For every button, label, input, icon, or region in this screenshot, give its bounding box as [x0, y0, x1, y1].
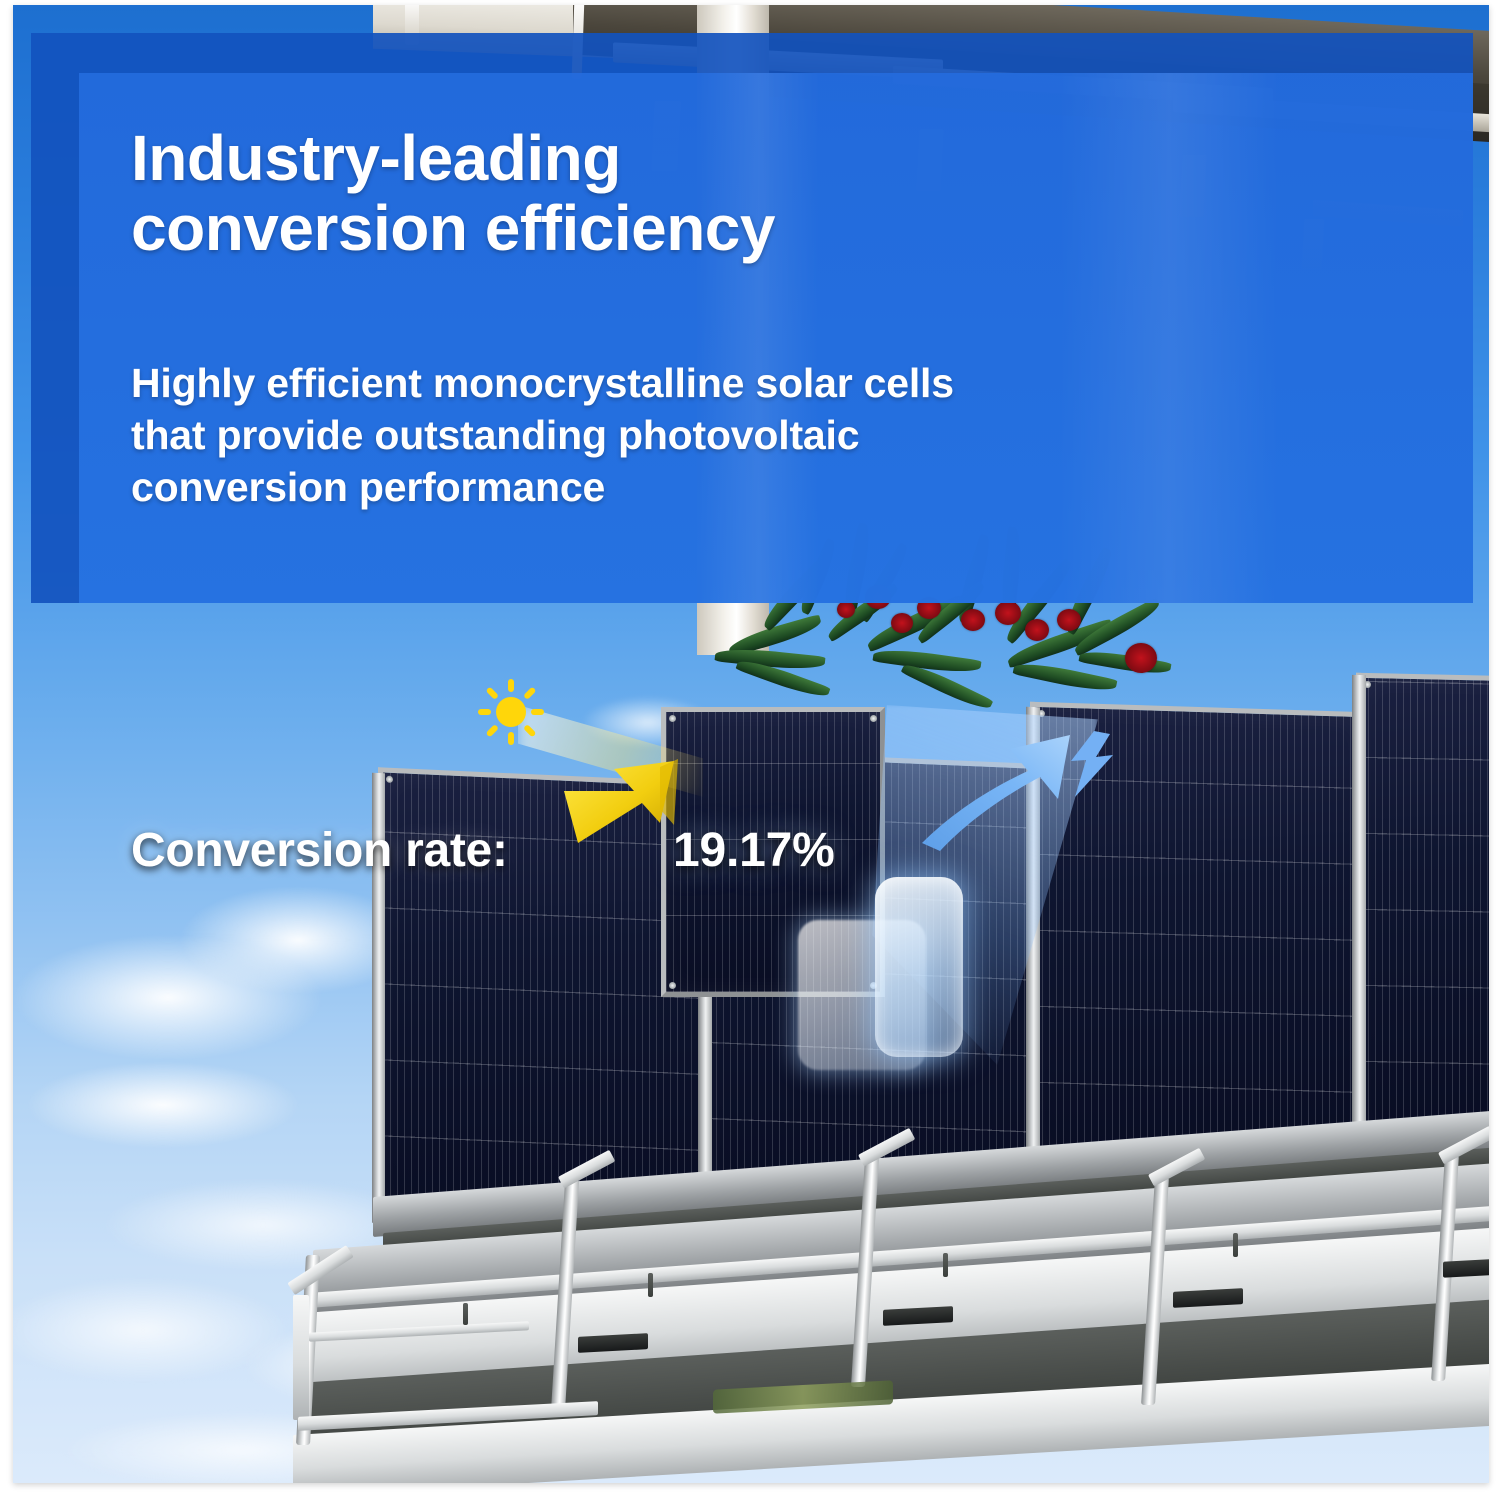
rail-hook [1233, 1233, 1238, 1257]
glow-card-front [875, 877, 963, 1057]
energy-output-arrow-icon [918, 713, 1078, 853]
conversion-rate-value: 19.17% [673, 823, 835, 878]
mount-clip [1443, 1258, 1489, 1277]
lightning-bolt-icon [1069, 731, 1115, 801]
conversion-rate-label: Conversion rate: [131, 823, 508, 878]
overlay-light-streak [1059, 73, 1279, 603]
rail-hook [648, 1273, 653, 1297]
page-title: Industry-leading conversion efficiency [131, 123, 1031, 264]
solar-panel [1356, 673, 1489, 1147]
side-bracket [293, 1295, 309, 1420]
panel-mullion [1352, 675, 1366, 1139]
text-overlay-panel [31, 33, 1473, 603]
product-feature-image: Industry-leading conversion efficiency H… [0, 0, 1500, 1500]
sun-icon [476, 677, 546, 747]
rail-hook [463, 1303, 468, 1325]
page-subtitle: Highly efficient monocrystalline solar c… [131, 357, 1271, 513]
rail-hook [943, 1253, 948, 1277]
photo-canvas: Industry-leading conversion efficiency H… [13, 5, 1489, 1483]
